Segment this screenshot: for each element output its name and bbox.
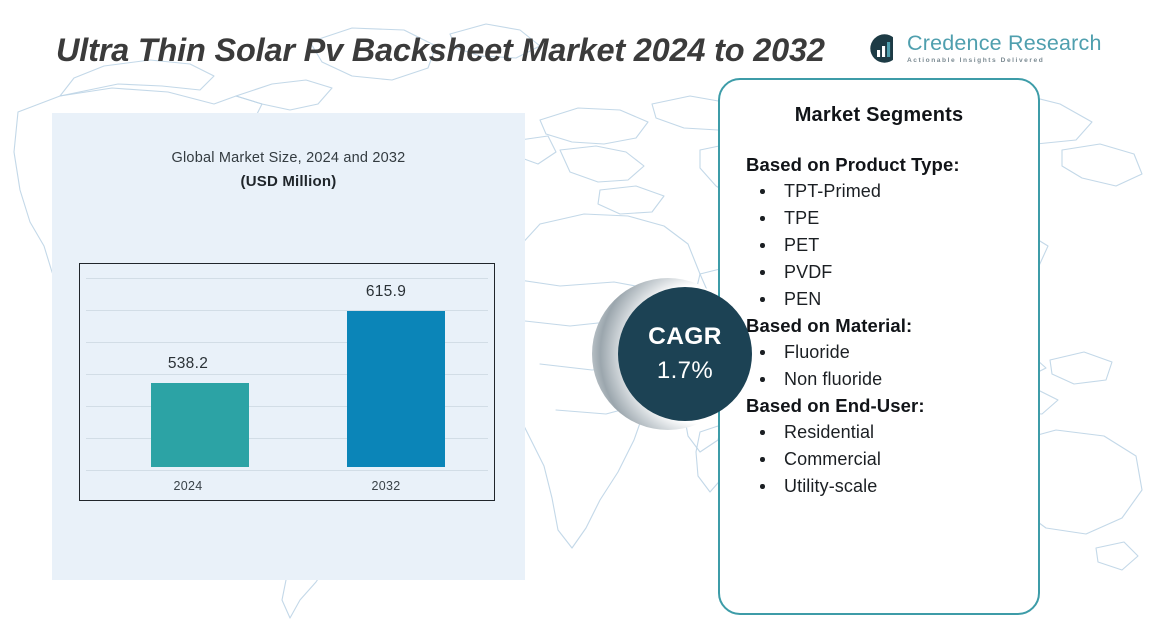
market-segments-title: Market Segments	[746, 104, 1012, 127]
cagr-value: 1.7%	[657, 359, 713, 383]
bar-2032[interactable]	[347, 311, 445, 467]
list-item[interactable]: PET	[746, 232, 1012, 259]
segment-heading: Based on Material:	[746, 313, 1012, 338]
list-item[interactable]: PVDF	[746, 259, 1012, 286]
list-item[interactable]: Commercial	[746, 446, 1012, 473]
segment-item-list: TPT-Primed TPE PET PVDF PEN	[746, 178, 1012, 313]
segment-group-product-type: Based on Product Type: TPT-Primed TPE PE…	[746, 152, 1012, 313]
cagr-label: CAGR	[648, 325, 722, 350]
bullet-icon	[760, 270, 765, 275]
segment-item-list: Fluoride Non fluoride	[746, 339, 1012, 393]
bar-2024[interactable]	[151, 383, 249, 467]
market-size-chart: Global Market Size, 2024 and 2032 (USD M…	[52, 140, 525, 510]
brand-logo: Credence Research Actionable Insights De…	[869, 33, 1102, 64]
segment-group-material: Based on Material: Fluoride Non fluoride	[746, 313, 1012, 393]
list-item[interactable]: TPT-Primed	[746, 178, 1012, 205]
list-item-label: Non fluoride	[784, 369, 882, 389]
chart-title: Global Market Size, 2024 and 2032	[52, 150, 525, 166]
infographic-root: Ultra Thin Solar Pv Backsheet Market 202…	[0, 0, 1157, 632]
category-label-2032: 2032	[328, 479, 444, 493]
list-item[interactable]: PEN	[746, 286, 1012, 313]
logo-name: Credence Research	[907, 33, 1102, 55]
bar-value-2024: 538.2	[130, 355, 246, 373]
list-item-label: PVDF	[784, 262, 832, 282]
segment-heading: Based on End-User:	[746, 393, 1012, 418]
list-item-label: Fluoride	[784, 342, 850, 362]
bar-value-2032: 615.9	[328, 283, 444, 301]
page-title: Ultra Thin Solar Pv Backsheet Market 202…	[56, 30, 846, 71]
chart-plot-inner: 538.2 2024 615.9 2032	[80, 264, 494, 500]
segment-item-list: Residential Commercial Utility-scale	[746, 419, 1012, 500]
bullet-icon	[760, 457, 765, 462]
bullet-icon	[760, 243, 765, 248]
market-segments-panel: Market Segments Based on Product Type: T…	[718, 78, 1040, 615]
chart-plot-area: 538.2 2024 615.9 2032	[79, 263, 495, 501]
bullet-icon	[760, 484, 765, 489]
cagr-badge: CAGR 1.7%	[592, 278, 764, 430]
list-item[interactable]: TPE	[746, 205, 1012, 232]
segment-group-end-user: Based on End-User: Residential Commercia…	[746, 393, 1012, 500]
bullet-icon	[760, 430, 765, 435]
list-item[interactable]: Utility-scale	[746, 473, 1012, 500]
list-item-label: TPT-Primed	[784, 181, 881, 201]
list-item-label: Utility-scale	[784, 476, 877, 496]
list-item-label: PEN	[784, 289, 821, 309]
list-item-label: Residential	[784, 422, 874, 442]
list-item[interactable]: Non fluoride	[746, 366, 1012, 393]
gridline	[86, 278, 488, 279]
bar-chart-circle-icon	[869, 33, 900, 64]
logo-tagline: Actionable Insights Delivered	[907, 58, 1102, 65]
list-item-label: Commercial	[784, 449, 881, 469]
list-item[interactable]: Residential	[746, 419, 1012, 446]
bullet-icon	[760, 216, 765, 221]
cagr-circle: CAGR 1.7%	[618, 287, 752, 421]
segment-heading: Based on Product Type:	[746, 152, 1012, 177]
chart-subtitle: (USD Million)	[52, 173, 525, 190]
list-item-label: PET	[784, 235, 819, 255]
category-label-2024: 2024	[130, 479, 246, 493]
list-item[interactable]: Fluoride	[746, 339, 1012, 366]
list-item-label: TPE	[784, 208, 819, 228]
bullet-icon	[760, 189, 765, 194]
gridline	[86, 470, 488, 471]
